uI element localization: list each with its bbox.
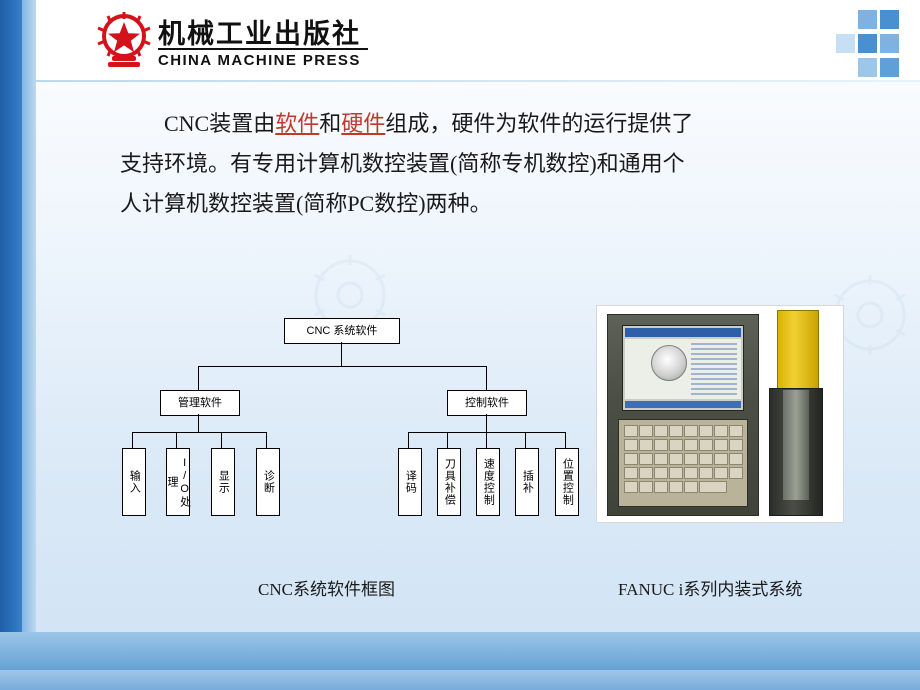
diagram-leaf-input: 输入 xyxy=(122,448,146,516)
cnc-unit-rail xyxy=(783,390,809,500)
cnc-key xyxy=(639,467,653,479)
diagram-line xyxy=(198,366,199,390)
cnc-key xyxy=(729,439,743,451)
decor-square-7 xyxy=(880,58,899,77)
diagram-line xyxy=(486,432,487,448)
cnc-key xyxy=(624,425,638,437)
cnc-key xyxy=(639,453,653,465)
diagram-line xyxy=(176,432,177,448)
paragraph-text-3: 和 xyxy=(319,111,341,136)
cnc-key xyxy=(729,453,743,465)
cnc-screen-body xyxy=(625,339,741,399)
cnc-operator-panel xyxy=(607,314,759,516)
diagram-line xyxy=(132,432,266,433)
cnc-key xyxy=(654,467,668,479)
diagram-line xyxy=(486,414,487,432)
cnc-key xyxy=(699,439,713,451)
cnc-key xyxy=(669,467,683,479)
cnc-key xyxy=(669,425,683,437)
decor-square-6 xyxy=(858,58,877,77)
diagram-line xyxy=(341,342,342,366)
decor-square-4 xyxy=(858,34,877,53)
cnc-unit-top-yellow xyxy=(777,310,819,390)
left-accent-band-highlight xyxy=(22,0,36,690)
cnc-key xyxy=(639,439,653,451)
diagram-leaf-interpolation: 插补 xyxy=(515,448,539,516)
diagram-node-control-software: 控制软件 xyxy=(447,390,527,416)
cnc-key xyxy=(669,439,683,451)
diagram-leaf-position-control: 位置控制 xyxy=(555,448,579,516)
diagram-leaf-speed-control: 速度控制 xyxy=(476,448,500,516)
publisher-name-cn: 机械工业出版社 xyxy=(158,12,361,51)
diagram-line xyxy=(565,432,566,448)
cnc-screen-part-graphic xyxy=(651,345,687,381)
gear-star-logo-icon xyxy=(96,12,152,68)
paragraph-line-2: 支持环境。有专用计算机数控装置(简称专机数控)和通用个 xyxy=(120,151,685,176)
diagram-line xyxy=(266,432,267,448)
cnc-software-block-diagram: CNC 系统软件 管理软件 控制软件 输入 I/O处理 显示 诊断 译码 刀具补… xyxy=(110,318,580,518)
paragraph-text-2: 装置由 xyxy=(209,111,275,136)
cnc-control-unit xyxy=(765,310,831,518)
diagram-line xyxy=(486,366,487,390)
cnc-key xyxy=(624,439,638,451)
diagram-leaf-io-processing: I/O处理 xyxy=(166,448,190,516)
cnc-screen-text-lines xyxy=(691,343,737,395)
paragraph-text-4: 组成，硬件为软件的运行提供了 xyxy=(385,111,693,136)
diagram-line xyxy=(525,432,526,448)
cnc-key xyxy=(684,481,698,493)
paragraph-line-3: 人计算机数控装置(简称PC数控)两种。 xyxy=(120,191,492,216)
cnc-key xyxy=(639,425,653,437)
cnc-key xyxy=(654,425,668,437)
slide-root: 机械工业出版社 CHINA MACHINE PRESS CNC装置由软件和硬件 xyxy=(0,0,920,690)
cnc-key xyxy=(684,453,698,465)
cnc-key xyxy=(699,481,727,493)
publisher-name-en: CHINA MACHINE PRESS xyxy=(158,48,368,69)
cnc-key xyxy=(654,453,668,465)
cnc-key xyxy=(624,453,638,465)
diagram-node-root: CNC 系统软件 xyxy=(284,318,400,344)
header-divider xyxy=(36,80,920,82)
cnc-key xyxy=(684,425,698,437)
cnc-key xyxy=(654,481,668,493)
cnc-key xyxy=(729,467,743,479)
cnc-key xyxy=(699,467,713,479)
cnc-key xyxy=(654,439,668,451)
cnc-key xyxy=(624,481,638,493)
diagram-node-management-software: 管理软件 xyxy=(160,390,240,416)
bottom-accent-band-highlight xyxy=(0,670,920,690)
fanuc-cnc-system-photo xyxy=(596,305,844,523)
caption-diagram: CNC系统软件框图 xyxy=(258,575,395,600)
diagram-line xyxy=(447,432,448,448)
cnc-key xyxy=(714,425,728,437)
keyword-hardware: 硬件 xyxy=(341,111,385,136)
cnc-keypad xyxy=(618,419,748,507)
cnc-key xyxy=(669,481,683,493)
diagram-line xyxy=(198,414,199,432)
diagram-leaf-diagnosis: 诊断 xyxy=(256,448,280,516)
decor-square-1 xyxy=(858,10,877,29)
publisher-logo: 机械工业出版社 CHINA MACHINE PRESS xyxy=(96,10,366,72)
cnc-key xyxy=(714,453,728,465)
cnc-key xyxy=(624,467,638,479)
cnc-key xyxy=(729,425,743,437)
cnc-key xyxy=(669,453,683,465)
decor-square-3 xyxy=(836,34,855,53)
cnc-screen-titlebar xyxy=(625,328,741,337)
diagram-leaf-display: 显示 xyxy=(211,448,235,516)
decor-square-5 xyxy=(880,34,899,53)
cnc-key xyxy=(684,467,698,479)
diagram-line xyxy=(132,432,133,448)
diagram-leaf-decoding: 译码 xyxy=(398,448,422,516)
cnc-key xyxy=(639,481,653,493)
decor-square-2 xyxy=(880,10,899,29)
cnc-key xyxy=(714,467,728,479)
cnc-screen-statusbar xyxy=(625,401,741,408)
cnc-key xyxy=(684,439,698,451)
keyword-software: 软件 xyxy=(275,111,319,136)
cnc-screen xyxy=(622,325,744,411)
diagram-line xyxy=(221,432,222,448)
diagram-line xyxy=(198,366,486,367)
body-paragraph: CNC装置由软件和硬件组成，硬件为软件的运行提供了 支持环境。有专用计算机数控装… xyxy=(120,104,860,224)
cnc-key xyxy=(714,439,728,451)
caption-photo: FANUC i系列内装式系统 xyxy=(618,575,802,600)
cnc-key xyxy=(699,453,713,465)
diagram-line xyxy=(408,432,409,448)
paragraph-text-1: CNC xyxy=(164,111,209,136)
diagram-leaf-tool-compensation: 刀具补偿 xyxy=(437,448,461,516)
cnc-key xyxy=(699,425,713,437)
